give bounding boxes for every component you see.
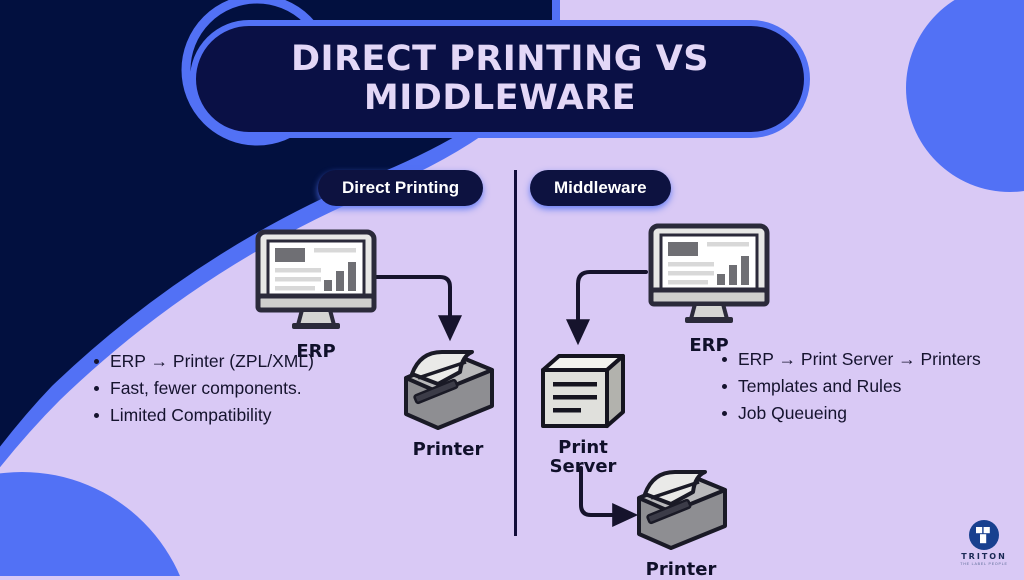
page-title: DIRECT PRINTING VS MIDDLEWARE: [291, 40, 709, 118]
node-caption-printer-right: Printer: [625, 561, 737, 580]
caption-line-1: Print: [558, 437, 608, 458]
node-printer-left: Printer: [392, 342, 504, 460]
node-print-server: Print Server: [535, 348, 631, 477]
letter-t-glyph: [969, 520, 999, 550]
node-printer-right: Printer: [625, 462, 737, 580]
server-box-icon: [535, 348, 631, 432]
list-item: ERP → Print Server → Printers: [722, 348, 984, 371]
caption-line-2: Server: [550, 456, 617, 477]
column-label-direct-printing: Direct Printing: [318, 170, 483, 206]
list-item: Templates and Rules: [722, 375, 984, 398]
brand-tagline: THE LABEL PEOPLE: [958, 562, 1010, 566]
printer-icon: [392, 342, 504, 434]
title-line-2: MIDDLEWARE: [364, 78, 636, 118]
bullet-list-direct-printing: ERP → Printer (ZPL/XML) Fast, fewer comp…: [94, 350, 349, 431]
title-line-1: DIRECT PRINTING VS: [291, 39, 709, 79]
printer-icon: [625, 462, 737, 554]
list-item: Limited Compatibility: [94, 404, 349, 427]
bullet-list-middleware: ERP → Print Server → Printers Templates …: [722, 348, 984, 429]
brand-logo: TRITON THE LABEL PEOPLE: [958, 520, 1010, 566]
list-item: Job Queueing: [722, 402, 984, 425]
node-erp-left: ERP: [252, 228, 380, 362]
triton-mark-icon: [969, 520, 999, 550]
monitor-icon: [645, 222, 773, 330]
list-item: ERP → Printer (ZPL/XML): [94, 350, 349, 373]
title-banner: DIRECT PRINTING VS MIDDLEWARE: [190, 20, 810, 138]
node-caption-printer-left: Printer: [392, 441, 504, 460]
node-caption-print-server: Print Server: [535, 439, 631, 477]
node-erp-right: ERP: [645, 222, 773, 356]
brand-name: TRITON: [958, 552, 1010, 561]
list-item: Fast, fewer components.: [94, 377, 349, 400]
column-divider: [514, 170, 517, 536]
column-label-middleware: Middleware: [530, 170, 671, 206]
monitor-icon: [252, 228, 380, 336]
